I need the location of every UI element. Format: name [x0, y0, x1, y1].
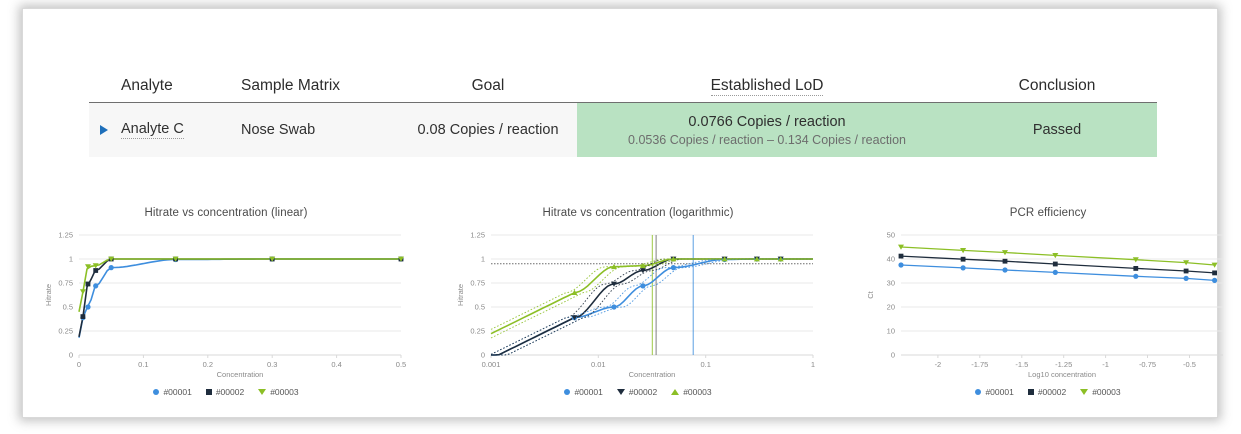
svg-text:1.25: 1.25	[470, 231, 485, 240]
legend-item[interactable]: #00002	[1028, 387, 1066, 397]
svg-text:1: 1	[481, 255, 485, 264]
svg-text:Concentration: Concentration	[629, 370, 676, 379]
row-expand-toggle[interactable]	[89, 103, 119, 157]
svg-text:-2: -2	[935, 360, 942, 369]
svg-text:-1.75: -1.75	[971, 360, 988, 369]
legend-label: #00002	[629, 387, 657, 397]
legend-marker-icon	[617, 389, 625, 395]
svg-text:1.25: 1.25	[58, 231, 73, 240]
legend-item[interactable]: #00003	[258, 387, 298, 397]
svg-text:0.5: 0.5	[63, 303, 73, 312]
svg-text:0.75: 0.75	[470, 279, 485, 288]
charts-area: Hitrate vs concentration (linear) 00.250…	[23, 199, 1219, 419]
svg-text:-0.75: -0.75	[1139, 360, 1156, 369]
svg-text:0: 0	[69, 351, 73, 360]
svg-text:0.4: 0.4	[331, 360, 341, 369]
chart-hitrate-logarithmic: Hitrate vs concentration (logarithmic) 0…	[453, 199, 823, 419]
svg-text:0.1: 0.1	[700, 360, 710, 369]
legend-marker-icon	[671, 389, 679, 395]
legend-label: #00003	[270, 387, 298, 397]
svg-text:0: 0	[77, 360, 81, 369]
lod-value: 0.0766 Copies / reaction	[688, 114, 845, 130]
analyte-name[interactable]: Analyte C	[121, 121, 184, 139]
legend-marker-icon	[975, 389, 981, 395]
table-row[interactable]: Analyte C Nose Swab 0.08 Copies / reacti…	[89, 103, 1157, 157]
legend-item[interactable]: #00001	[975, 387, 1013, 397]
svg-text:40: 40	[887, 255, 895, 264]
svg-text:Concentration: Concentration	[217, 370, 264, 379]
svg-text:Hitrate: Hitrate	[44, 284, 53, 306]
table-header-row: Analyte Sample Matrix Goal Established L…	[89, 69, 1157, 103]
plot-area: 00.250.50.7511.250.0010.010.11HitrateCon…	[453, 227, 823, 379]
chart-hitrate-linear: Hitrate vs concentration (linear) 00.250…	[41, 199, 411, 419]
plot-area: 00.250.50.7511.2500.10.20.30.40.5Hitrate…	[41, 227, 411, 379]
column-header-conclusion: Conclusion	[957, 77, 1157, 102]
svg-text:0: 0	[891, 351, 895, 360]
legend-item[interactable]: #00003	[1080, 387, 1120, 397]
legend-label: #00003	[683, 387, 711, 397]
column-header-established-lod: Established LoD	[577, 77, 957, 102]
column-header-analyte: Analyte	[119, 77, 239, 102]
column-header-sample-matrix: Sample Matrix	[239, 77, 399, 102]
svg-text:0: 0	[481, 351, 485, 360]
svg-text:0.01: 0.01	[591, 360, 606, 369]
legend-marker-icon	[1080, 389, 1088, 395]
chart-title: Hitrate vs concentration (linear)	[41, 207, 411, 219]
svg-text:Ct: Ct	[866, 290, 875, 298]
svg-text:50: 50	[887, 231, 895, 240]
chart-title: PCR efficiency	[863, 207, 1233, 219]
legend-item[interactable]: #00002	[206, 387, 244, 397]
chart-legend: #00001#00002#00003	[863, 387, 1233, 397]
chart-pcr-efficiency: PCR efficiency 01020304050-2-1.75-1.5-1.…	[863, 199, 1233, 419]
chart-legend: #00001#00002#00003	[41, 387, 411, 397]
svg-text:0.3: 0.3	[267, 360, 277, 369]
svg-text:-1.25: -1.25	[1055, 360, 1072, 369]
svg-text:1: 1	[69, 255, 73, 264]
legend-label: #00001	[574, 387, 602, 397]
legend-marker-icon	[564, 389, 570, 395]
legend-label: #00002	[216, 387, 244, 397]
svg-text:-0.5: -0.5	[1183, 360, 1196, 369]
svg-text:30: 30	[887, 279, 895, 288]
legend-label: #00002	[1038, 387, 1066, 397]
legend-label: #00001	[163, 387, 191, 397]
legend-item[interactable]: #00001	[564, 387, 602, 397]
plot-svg: 00.250.50.7511.250.0010.010.11HitrateCon…	[453, 227, 823, 379]
legend-item[interactable]: #00001	[153, 387, 191, 397]
legend-item[interactable]: #00002	[617, 387, 657, 397]
svg-text:0.001: 0.001	[482, 360, 501, 369]
legend-label: #00001	[985, 387, 1013, 397]
status-badge: Passed	[1033, 122, 1081, 138]
cell-established-lod: 0.0766 Copies / reaction 0.0536 Copies /…	[577, 103, 957, 157]
svg-text:0.75: 0.75	[58, 279, 73, 288]
svg-text:10: 10	[887, 327, 895, 336]
chevron-right-icon[interactable]	[100, 125, 108, 135]
header-toggle-spacer	[89, 95, 119, 102]
legend-marker-icon	[258, 389, 266, 395]
svg-text:0.25: 0.25	[58, 327, 73, 336]
svg-text:0.2: 0.2	[203, 360, 213, 369]
svg-text:0.5: 0.5	[396, 360, 406, 369]
cell-conclusion: Passed	[957, 103, 1157, 157]
lod-confidence-range: 0.0536 Copies / reaction – 0.134 Copies …	[628, 133, 906, 147]
chart-title: Hitrate vs concentration (logarithmic)	[453, 207, 823, 219]
report-panel: Analyte Sample Matrix Goal Established L…	[22, 8, 1218, 418]
svg-text:0.1: 0.1	[138, 360, 148, 369]
plot-svg: 00.250.50.7511.2500.10.20.30.40.5Hitrate…	[41, 227, 411, 379]
legend-marker-icon	[1028, 389, 1034, 395]
svg-text:0.5: 0.5	[475, 303, 485, 312]
svg-text:Log10 concentration: Log10 concentration	[1028, 370, 1096, 379]
svg-text:20: 20	[887, 303, 895, 312]
plot-area: 01020304050-2-1.75-1.5-1.25-1-0.75-0.5Ct…	[863, 227, 1233, 379]
svg-text:0.25: 0.25	[470, 327, 485, 336]
column-header-goal: Goal	[399, 77, 577, 102]
svg-text:-1.5: -1.5	[1015, 360, 1028, 369]
legend-label: #00003	[1092, 387, 1120, 397]
svg-text:1: 1	[811, 360, 815, 369]
legend-marker-icon	[153, 389, 159, 395]
column-header-lod-label[interactable]: Established LoD	[711, 77, 824, 96]
cell-sample-matrix: Nose Swab	[239, 103, 399, 157]
legend-item[interactable]: #00003	[671, 387, 711, 397]
lod-results-table: Analyte Sample Matrix Goal Established L…	[89, 69, 1157, 157]
legend-marker-icon	[206, 389, 212, 395]
svg-text:-1: -1	[1102, 360, 1109, 369]
cell-goal: 0.08 Copies / reaction	[399, 103, 577, 157]
cell-analyte: Analyte C	[119, 103, 239, 157]
plot-svg: 01020304050-2-1.75-1.5-1.25-1-0.75-0.5Ct…	[863, 227, 1233, 379]
chart-legend: #00001#00002#00003	[453, 387, 823, 397]
svg-text:Hitrate: Hitrate	[456, 284, 465, 306]
